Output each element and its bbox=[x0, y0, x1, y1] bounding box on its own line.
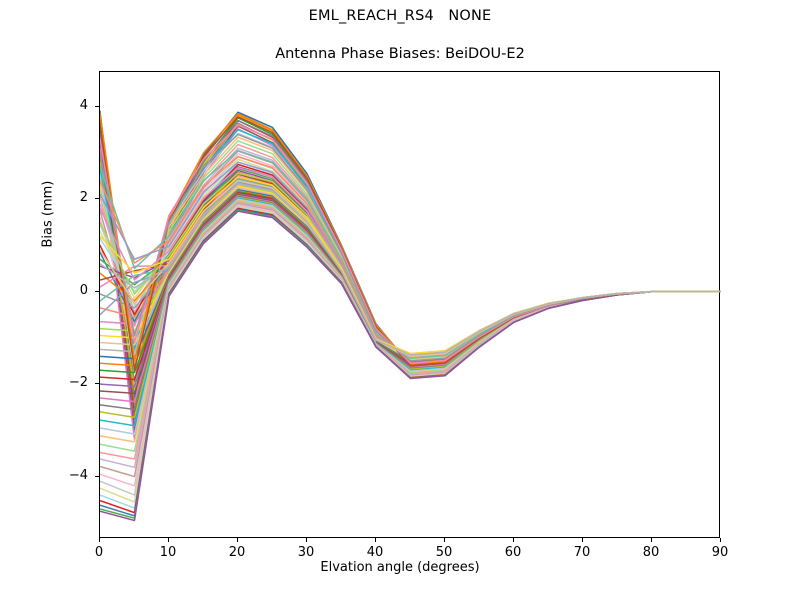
chart-title: Antenna Phase Biases: BeiDOU-E2 bbox=[0, 46, 800, 62]
y-tick-label: −4 bbox=[48, 469, 88, 483]
figure-canvas: EML_REACH_RS4 NONE Antenna Phase Biases:… bbox=[0, 0, 800, 600]
y-tick-label: 2 bbox=[48, 191, 88, 205]
x-tick-label: 0 bbox=[79, 545, 119, 560]
x-tick-label: 20 bbox=[217, 545, 257, 560]
y-tick-label: 4 bbox=[48, 99, 88, 113]
x-tick-label: 40 bbox=[355, 545, 395, 560]
y-tick-label: −2 bbox=[48, 376, 88, 390]
x-tick-label: 50 bbox=[424, 545, 464, 560]
x-tick-label: 10 bbox=[148, 545, 188, 560]
x-tick-label: 80 bbox=[631, 545, 671, 560]
x-axis-label: Elvation angle (degrees) bbox=[0, 560, 800, 575]
figure-suptitle: EML_REACH_RS4 NONE bbox=[0, 8, 800, 24]
y-tick-label: 0 bbox=[48, 284, 88, 298]
plot-area bbox=[99, 71, 720, 538]
x-tick-label: 70 bbox=[562, 545, 602, 560]
series-line bbox=[100, 123, 721, 425]
x-tick-label: 30 bbox=[286, 545, 326, 560]
x-tick-label: 60 bbox=[493, 545, 533, 560]
x-tick-label: 90 bbox=[700, 545, 740, 560]
line-chart-svg bbox=[100, 72, 721, 539]
y-axis-label: Bias (mm) bbox=[41, 228, 56, 248]
